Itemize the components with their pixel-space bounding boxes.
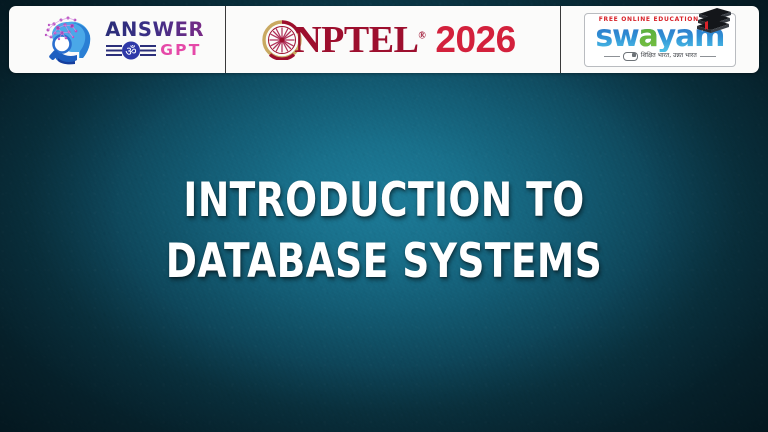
swayam-word-part-2: a bbox=[639, 19, 657, 54]
slide-canvas: ANSWER bbox=[0, 0, 768, 432]
nptel-wordmark-text: NPTEL bbox=[294, 19, 418, 61]
brain-head-magnifier-icon bbox=[38, 14, 100, 66]
brand-cell-swayam[interactable]: FREE ONLINE EDUCATION swayam शिक्षित भार… bbox=[561, 6, 759, 73]
nptel-wordmark: NPTEL® bbox=[294, 21, 425, 59]
answergpt-wordmark-gpt: GPT bbox=[160, 43, 201, 59]
computer-mouse-icon bbox=[623, 52, 638, 61]
brand-cell-answergpt[interactable]: ANSWER bbox=[9, 6, 225, 73]
brand-cell-nptel[interactable]: NPTEL® 2026 bbox=[226, 6, 559, 73]
stacked-books-icon bbox=[693, 6, 733, 35]
page-title-line-2: DATABASE SYSTEMS bbox=[77, 231, 691, 292]
slide-title: INTRODUCTION TO DATABASE SYSTEMS bbox=[0, 170, 768, 292]
nptel-year: 2026 bbox=[435, 21, 515, 58]
om-symbol-icon: ॐ bbox=[105, 41, 157, 60]
svg-text:ॐ: ॐ bbox=[126, 43, 137, 58]
registered-trademark-icon: ® bbox=[418, 30, 425, 41]
answergpt-wordmark-answer: ANSWER bbox=[105, 20, 204, 40]
brand-header-bar: ANSWER bbox=[9, 6, 759, 73]
page-title-line-1: INTRODUCTION TO bbox=[77, 170, 691, 231]
tagline-rule-left bbox=[604, 56, 620, 57]
tagline-rule-right bbox=[700, 56, 716, 57]
swayam-tagline: शिक्षित भारत, उन्नत भारत bbox=[641, 53, 697, 59]
swayam-word-part-1: sw bbox=[595, 19, 638, 54]
